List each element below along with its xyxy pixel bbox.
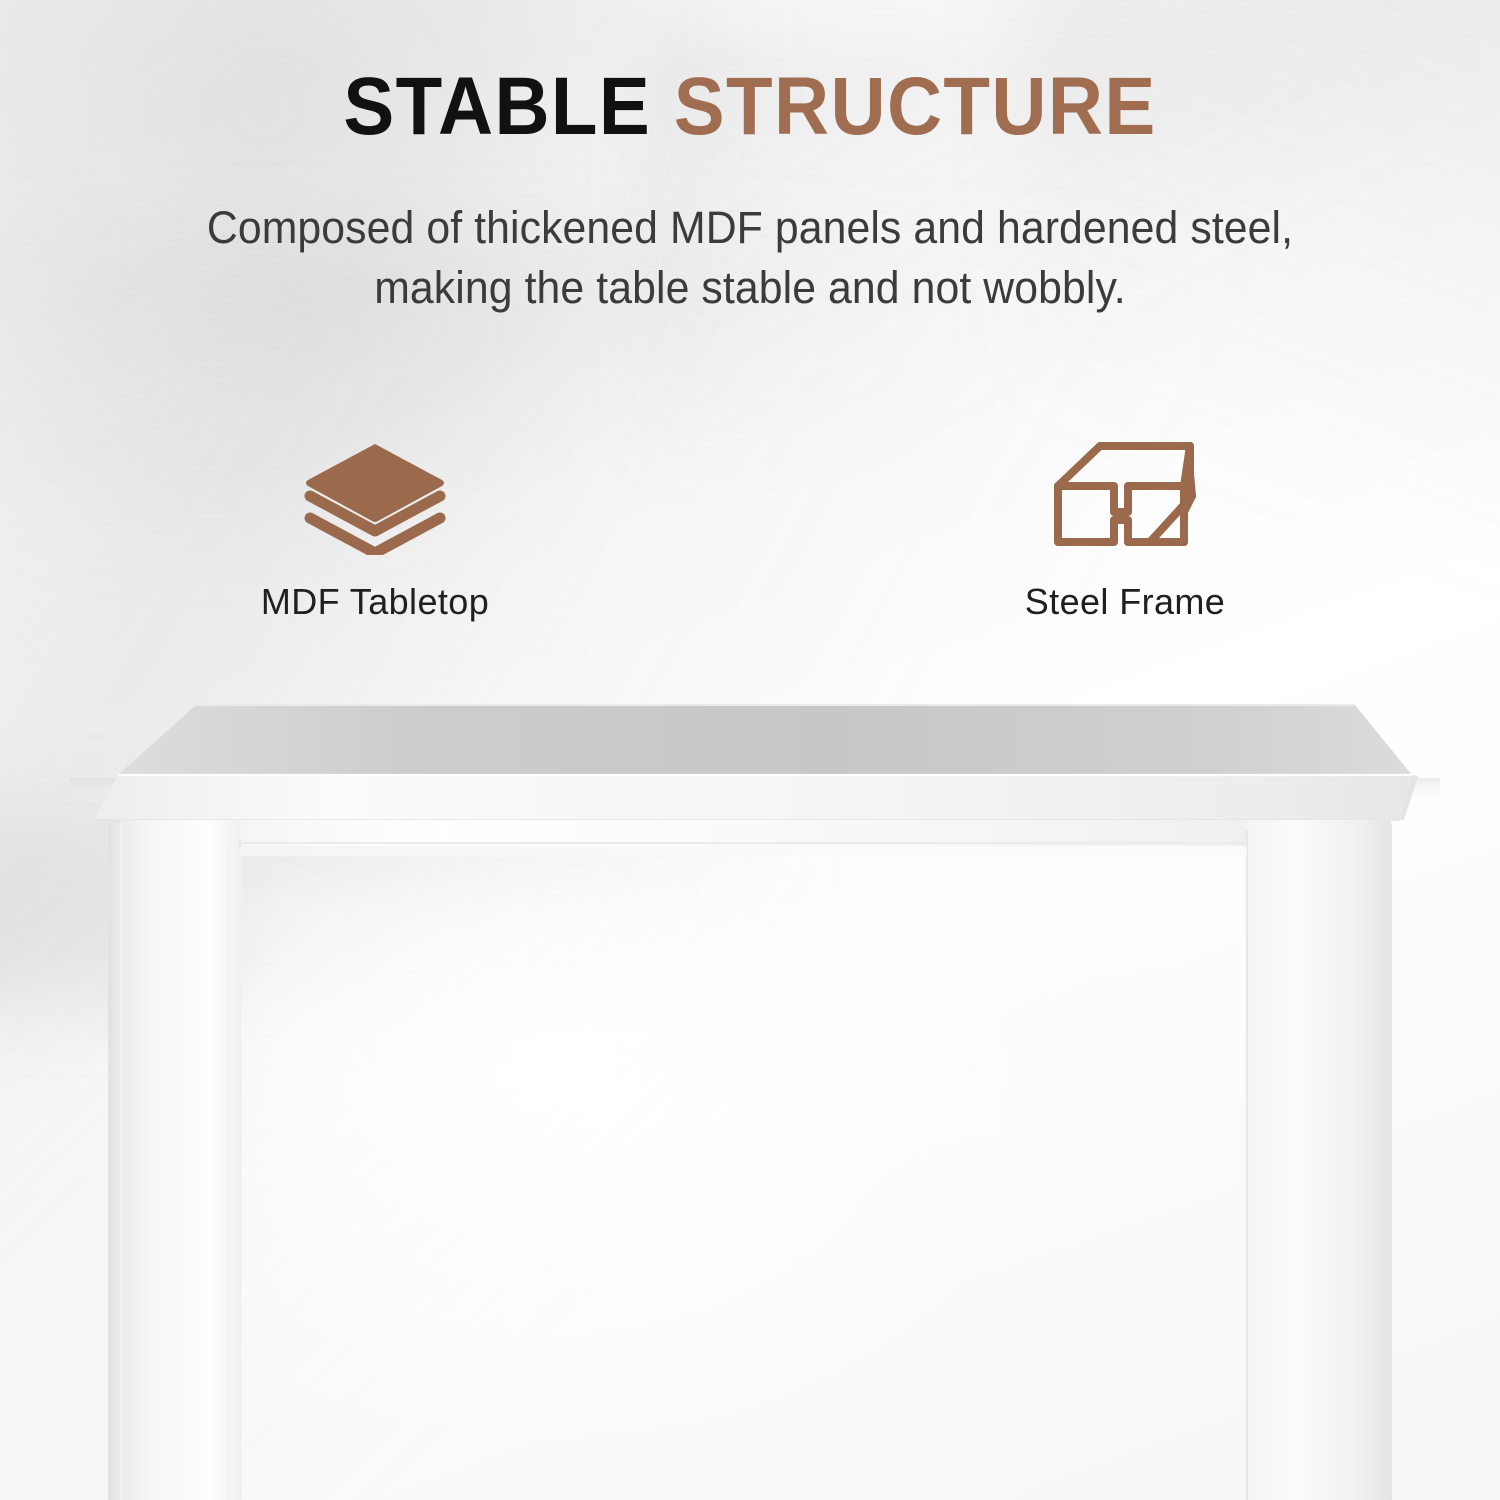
marketing-infographic: STABLE STRUCTURE Composed of thickened M… — [0, 0, 1500, 1500]
feature-mdf-tabletop: MDF Tabletop — [0, 430, 750, 623]
title-word-structure: STRUCTURE — [674, 61, 1157, 152]
subtitle: Composed of thickened MDF panels and har… — [38, 198, 1463, 318]
feature-label-steel: Steel Frame — [1025, 581, 1225, 623]
page-title: STABLE STRUCTURE — [53, 66, 1448, 148]
subtitle-line-2: making the table stable and not wobbly. — [38, 258, 1463, 318]
steel-ibeam-icon — [1040, 430, 1210, 555]
feature-steel-frame: Steel Frame — [750, 430, 1500, 623]
feature-label-mdf: MDF Tabletop — [261, 581, 489, 623]
product-image-console-table — [0, 660, 1500, 1500]
title-word-stable: STABLE — [343, 61, 651, 152]
subtitle-line-1: Composed of thickened MDF panels and har… — [38, 198, 1463, 258]
mdf-layers-icon — [290, 430, 460, 555]
feature-row: MDF Tabletop — [0, 430, 1500, 623]
